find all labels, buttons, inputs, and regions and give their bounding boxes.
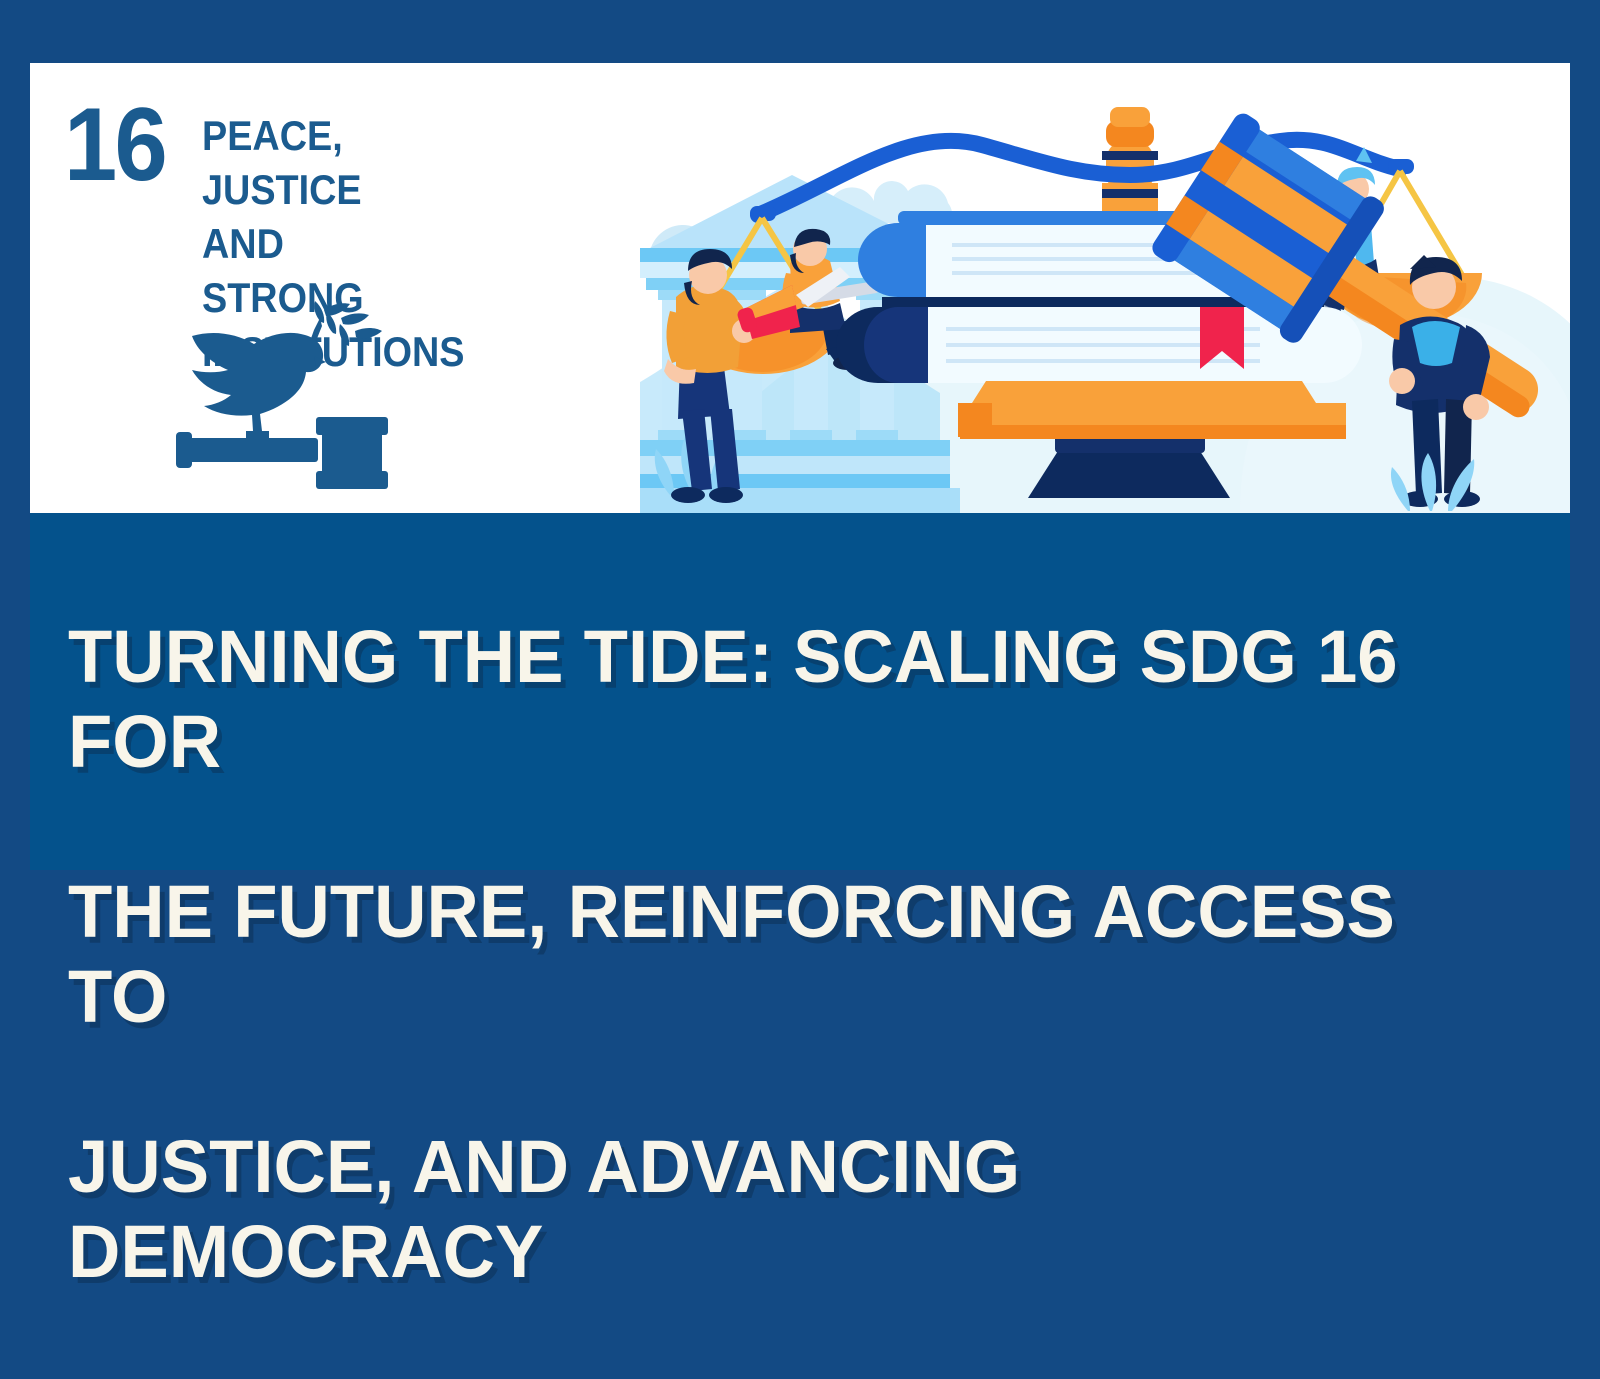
page-title-line2: THE FUTURE, REINFORCING ACCESS TO xyxy=(68,869,1440,1039)
sdg-goal-title-line1: PEACE, JUSTICE xyxy=(202,109,454,217)
page-title-line1: TURNING THE TIDE: SCALING SDG 16 FOR xyxy=(68,614,1440,784)
poster-root: 16 PEACE, JUSTICE AND STRONG INSTITUTION… xyxy=(0,0,1600,900)
sdg-goal-number: 16 xyxy=(64,93,165,197)
sdg-goal-card: 16 PEACE, JUSTICE AND STRONG INSTITUTION… xyxy=(64,85,484,505)
page-title: TURNING THE TIDE: SCALING SDG 16 FOR THE… xyxy=(68,529,1440,1379)
dove-gavel-icon xyxy=(174,300,394,490)
sdg-banner-panel: 16 PEACE, JUSTICE AND STRONG INSTITUTION… xyxy=(30,63,1570,513)
page-title-line3: JUSTICE, AND ADVANCING DEMOCRACY xyxy=(68,1124,1440,1294)
headline-strip: TURNING THE TIDE: SCALING SDG 16 FOR THE… xyxy=(30,513,1570,870)
justice-illustration xyxy=(640,63,1570,513)
